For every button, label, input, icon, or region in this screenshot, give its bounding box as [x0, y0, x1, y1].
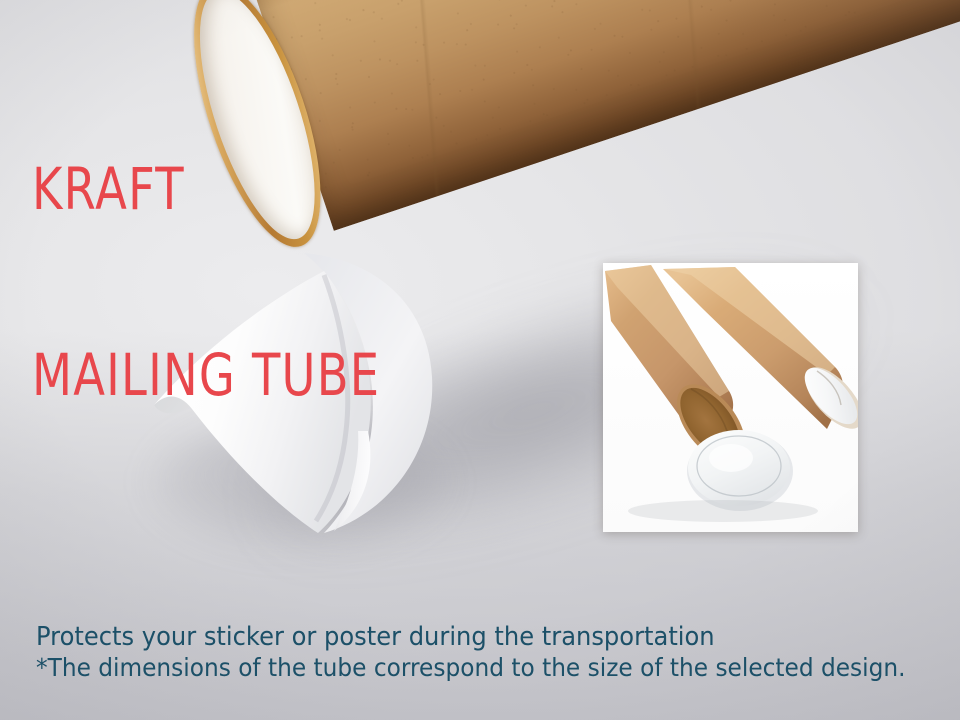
- body-copy: Protects your sticker or poster during t…: [36, 557, 778, 720]
- inset-photo-artwork: [603, 263, 858, 532]
- inset-product-photo: [603, 263, 858, 532]
- body-line-1: Protects your sticker or poster during t…: [36, 621, 778, 653]
- title-line-2: MAILING TUBE: [32, 344, 380, 406]
- title-line-1: KRAFT: [32, 158, 380, 220]
- product-banner: KRAFT MAILING TUBE Protects your sticker…: [0, 0, 960, 720]
- footnote: *The dimensions of the tube correspond t…: [36, 653, 905, 683]
- page-title: KRAFT MAILING TUBE: [32, 34, 380, 530]
